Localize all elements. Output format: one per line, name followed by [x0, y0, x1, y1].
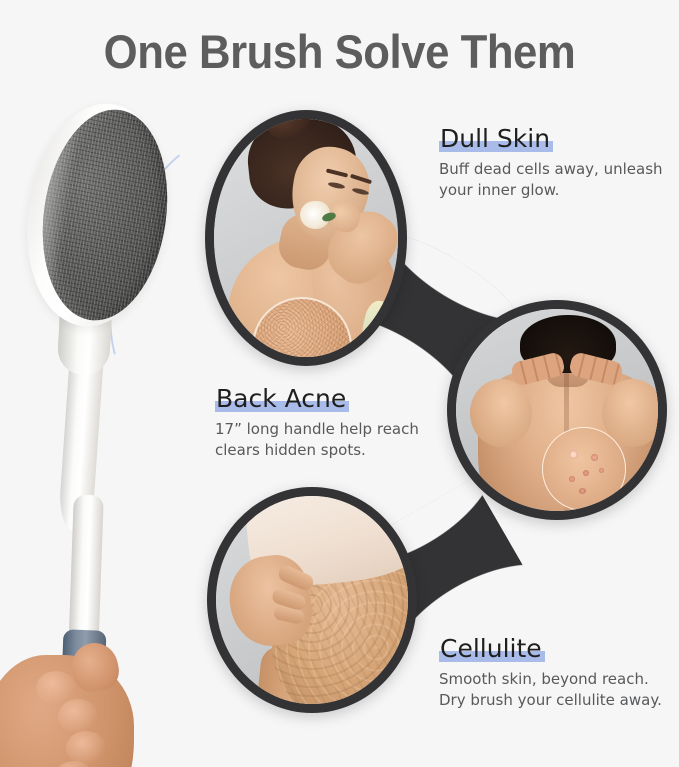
feature-heading-back-acne: Back Acne	[215, 384, 349, 413]
knuckle	[66, 731, 106, 765]
magnified-acne-inset	[542, 427, 626, 511]
photo-circle-cellulite	[207, 487, 417, 713]
pimple	[569, 450, 578, 459]
white-flower	[300, 201, 330, 229]
photo-cellulite	[216, 496, 408, 704]
page-title: One Brush Solve Them	[24, 24, 655, 80]
pimple	[569, 476, 575, 482]
pimple	[583, 470, 589, 476]
infographic-page: One Brush Solve Them	[0, 0, 679, 767]
man-shoulder-left	[470, 379, 532, 447]
feature-body-cellulite: Smooth skin, beyond reach. Dry brush you…	[439, 669, 675, 711]
feature-heading-dull-skin: Dull Skin	[439, 124, 553, 153]
knuckle	[58, 699, 98, 733]
photo-circle-back-acne	[447, 300, 667, 520]
photo-dull-skin	[214, 119, 398, 357]
pimple	[599, 468, 604, 473]
feature-heading-text: Dull Skin	[440, 124, 550, 153]
feature-back-acne: Back Acne 17” long handle help reach cle…	[215, 384, 437, 461]
pimple	[579, 488, 586, 494]
pimple	[591, 454, 598, 461]
feature-heading-text: Cellulite	[440, 634, 542, 663]
product-brush-image	[0, 95, 210, 767]
feature-cellulite: Cellulite Smooth skin, beyond reach. Dry…	[439, 634, 675, 711]
feature-heading-cellulite: Cellulite	[439, 634, 545, 663]
feature-heading-text: Back Acne	[216, 384, 346, 413]
feature-dull-skin: Dull Skin Buff dead cells away, unleash …	[439, 124, 671, 201]
feature-body-back-acne: 17” long handle help reach clears hidden…	[215, 419, 437, 461]
photo-circle-dull-skin	[205, 110, 407, 366]
feature-body-dull-skin: Buff dead cells away, unleash your inner…	[439, 159, 671, 201]
photo-back-acne	[456, 309, 658, 511]
